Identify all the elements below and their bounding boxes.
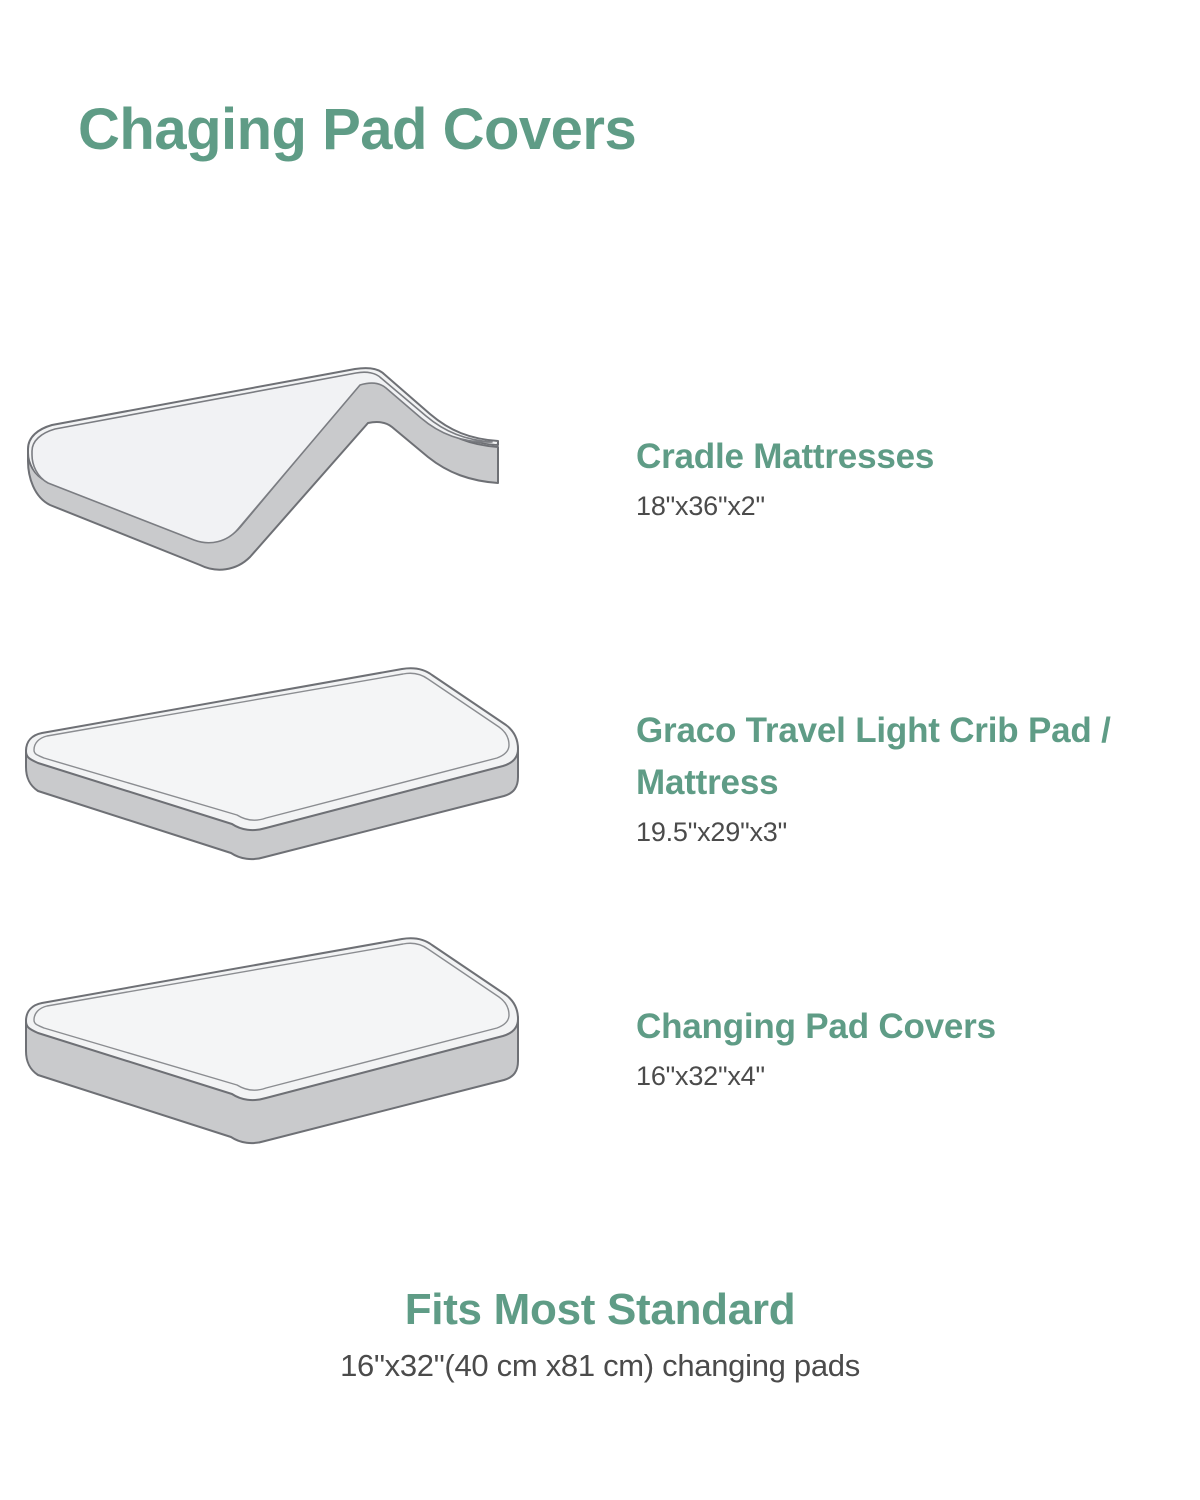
product-row: Cradle Mattresses 18"x36"x2" — [0, 365, 1200, 590]
product-illustration-contoured-pad — [0, 365, 600, 590]
product-illustration-flat-mattress-thin — [0, 665, 600, 890]
product-info: Changing Pad Covers 16"x32"x4" — [600, 1001, 1200, 1095]
product-info: Graco Travel Light Crib Pad / Mattress 1… — [600, 705, 1200, 851]
product-row: Changing Pad Covers 16"x32"x4" — [0, 935, 1200, 1160]
product-illustration-flat-mattress-thick — [0, 935, 600, 1160]
footer-subtitle: 16"x32"(40 cm x81 cm) changing pads — [0, 1344, 1200, 1388]
footer-title: Fits Most Standard — [0, 1282, 1200, 1338]
product-title: Changing Pad Covers — [636, 1001, 1200, 1053]
product-info: Cradle Mattresses 18"x36"x2" — [600, 431, 1200, 525]
product-dimensions: 16"x32"x4" — [636, 1057, 1200, 1095]
product-row: Graco Travel Light Crib Pad / Mattress 1… — [0, 665, 1200, 890]
product-title: Graco Travel Light Crib Pad / Mattress — [636, 705, 1166, 809]
page-title: Chaging Pad Covers — [78, 96, 636, 164]
flat-mattress-thin-icon — [0, 665, 600, 890]
footer: Fits Most Standard 16"x32"(40 cm x81 cm)… — [0, 1282, 1200, 1388]
product-dimensions: 18"x36"x2" — [636, 487, 1200, 525]
flat-mattress-thick-icon — [0, 935, 600, 1160]
infographic-page: Chaging Pad Covers Cradle Mattresses 18"… — [0, 0, 1200, 1500]
contoured-changing-pad-icon — [0, 365, 600, 590]
product-dimensions: 19.5"x29"x3" — [636, 813, 1200, 851]
product-title: Cradle Mattresses — [636, 431, 1200, 483]
